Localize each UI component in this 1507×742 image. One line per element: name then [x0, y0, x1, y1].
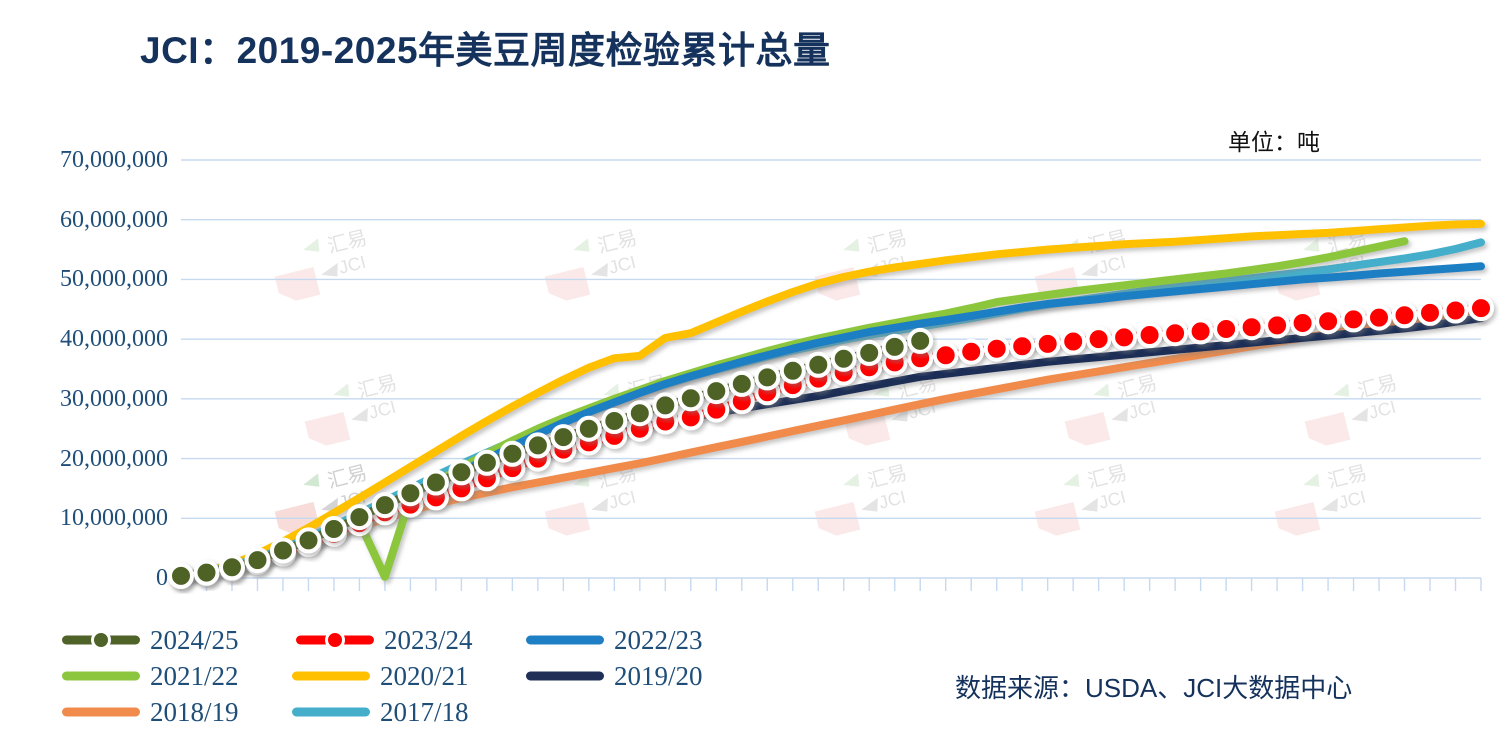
legend-swatch-icon	[526, 629, 604, 651]
legend-swatch-icon	[296, 629, 374, 651]
svg-text:JCI: JCI	[367, 397, 398, 423]
data-point	[374, 494, 396, 516]
data-point	[1445, 300, 1467, 322]
legend-swatch-icon	[62, 701, 140, 723]
data-point	[680, 387, 702, 409]
data-point	[247, 549, 269, 571]
data-point	[323, 518, 345, 540]
svg-text:JCI: JCI	[1097, 252, 1128, 278]
y-axis-tick-label: 10,000,000	[3, 505, 168, 532]
data-point	[1266, 314, 1288, 336]
chart-page: JCI：2019-2025年美豆周度检验累计总量 单位：吨 汇易JCI汇易JCI…	[0, 0, 1507, 742]
data-point	[909, 330, 931, 352]
data-point	[450, 461, 472, 483]
data-point	[1062, 331, 1084, 353]
legend-item-2024-25[interactable]: 2024/25	[62, 622, 288, 658]
data-point	[221, 556, 243, 578]
data-point	[603, 410, 625, 432]
data-point	[272, 540, 294, 562]
svg-text:JCI: JCI	[1337, 487, 1368, 513]
data-point	[782, 360, 804, 382]
y-axis-tick-label: 60,000,000	[3, 207, 168, 234]
data-point	[1164, 322, 1186, 344]
data-point	[1241, 316, 1263, 338]
data-point	[1037, 333, 1059, 355]
data-point	[654, 394, 676, 416]
legend-swatch-icon	[62, 629, 140, 651]
data-point	[1394, 304, 1416, 326]
data-point	[1470, 297, 1492, 319]
data-point	[935, 344, 957, 366]
data-point	[833, 348, 855, 370]
data-point	[399, 482, 421, 504]
data-point	[884, 336, 906, 358]
svg-text:JCI: JCI	[607, 487, 638, 513]
legend-item-2018-19[interactable]: 2018/19	[62, 694, 284, 730]
legend-item-2017-18[interactable]: 2017/18	[292, 694, 514, 730]
data-point	[1343, 308, 1365, 330]
legend-label: 2024/25	[150, 625, 268, 656]
legend-swatch-icon	[526, 665, 604, 687]
legend-item-2020-21[interactable]: 2020/21	[292, 658, 518, 694]
x-axis-ticks	[181, 578, 1481, 591]
data-point	[1139, 324, 1161, 346]
svg-text:JCI: JCI	[1097, 487, 1128, 513]
svg-text:JCI: JCI	[607, 252, 638, 278]
data-point	[552, 426, 574, 448]
data-point	[858, 342, 880, 364]
legend-swatch-icon	[292, 665, 370, 687]
svg-text:JCI: JCI	[1367, 397, 1398, 423]
legend-label: 2021/22	[150, 661, 268, 692]
y-axis-tick-label: 20,000,000	[3, 446, 168, 473]
data-point	[1317, 310, 1339, 332]
y-axis-tick-label: 30,000,000	[3, 386, 168, 413]
chart-legend: 2024/252023/242022/232021/222020/212019/…	[62, 622, 962, 730]
data-point	[756, 366, 778, 388]
legend-label: 2023/24	[384, 625, 502, 656]
data-point	[1368, 307, 1390, 329]
data-point	[1292, 312, 1314, 334]
legend-item-2022-23[interactable]: 2022/23	[526, 622, 748, 658]
data-point	[298, 529, 320, 551]
y-axis-tick-label: 40,000,000	[3, 326, 168, 353]
series-2018-19	[181, 309, 1481, 577]
legend-item-2023-24[interactable]: 2023/24	[296, 622, 518, 658]
svg-text:JCI: JCI	[1127, 397, 1158, 423]
data-point	[578, 418, 600, 440]
data-point	[1419, 302, 1441, 324]
y-axis-tick-label: 0	[3, 565, 168, 592]
data-point	[476, 452, 498, 474]
data-point	[501, 443, 523, 465]
data-point	[1190, 320, 1212, 342]
data-point	[1088, 328, 1110, 350]
data-point	[348, 506, 370, 528]
legend-label: 2019/20	[614, 661, 732, 692]
legend-label: 2018/19	[150, 697, 268, 728]
y-axis-tick-label: 50,000,000	[3, 266, 168, 293]
data-point	[1011, 335, 1033, 357]
legend-item-2021-22[interactable]: 2021/22	[62, 658, 284, 694]
legend-swatch-icon	[62, 665, 140, 687]
data-point	[705, 380, 727, 402]
data-point	[986, 338, 1008, 360]
data-point	[527, 434, 549, 456]
data-point	[629, 402, 651, 424]
svg-text:JCI: JCI	[337, 252, 368, 278]
data-point	[425, 472, 447, 494]
legend-label: 2022/23	[614, 625, 732, 656]
legend-label: 2020/21	[380, 661, 498, 692]
data-point	[1113, 326, 1135, 348]
y-axis-tick-label: 70,000,000	[3, 147, 168, 174]
legend-label: 2017/18	[380, 697, 498, 728]
data-point	[1215, 318, 1237, 340]
data-point	[170, 565, 192, 587]
legend-swatch-icon	[292, 701, 370, 723]
svg-text:JCI: JCI	[877, 487, 908, 513]
source-note: 数据来源：USDA、JCI大数据中心	[955, 668, 1352, 705]
data-point	[196, 562, 218, 584]
data-point	[731, 373, 753, 395]
legend-item-2019-20[interactable]: 2019/20	[526, 658, 748, 694]
data-point	[960, 341, 982, 363]
data-point	[807, 354, 829, 376]
